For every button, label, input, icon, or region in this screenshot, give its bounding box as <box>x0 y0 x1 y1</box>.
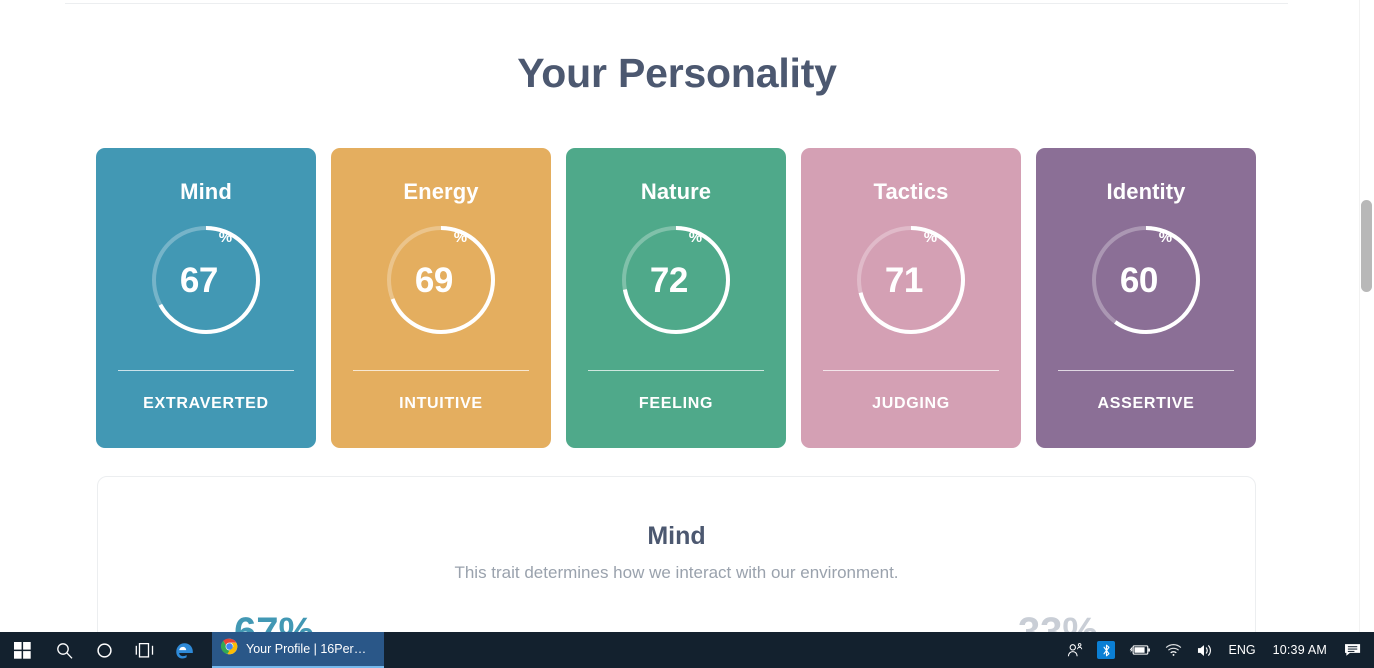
trait-card-tactics[interactable]: Tactics 71 % JUDGING <box>801 148 1021 448</box>
trait-card-energy[interactable]: Energy 69 % INTUITIVE <box>331 148 551 448</box>
trait-card-nature[interactable]: Nature 72 % FEELING <box>566 148 786 448</box>
gauge-percent-symbol: % <box>924 229 937 246</box>
trait-card-title: Nature <box>641 179 711 205</box>
cortana-circle-icon[interactable] <box>84 632 124 668</box>
detail-panel-title: Mind <box>98 521 1255 551</box>
detail-panel-figures: 67% 33% <box>98 609 1255 632</box>
card-separator <box>1058 370 1234 371</box>
gauge-number: 67 <box>180 263 218 298</box>
detail-left-percent: 67% <box>234 609 314 632</box>
system-tray: ENG 10:39 AM <box>1060 632 1374 668</box>
gauge-percent-symbol: % <box>219 229 232 246</box>
battery-charging-icon[interactable] <box>1122 632 1158 668</box>
people-icon[interactable] <box>1060 632 1090 668</box>
taskbar-app-label: Your Profile | 16Perso... <box>246 642 372 656</box>
trait-card-title: Identity <box>1106 179 1185 205</box>
search-icon[interactable] <box>44 632 84 668</box>
gauge-value: 67 % <box>149 223 263 337</box>
browser-content: Your Personality Mind 67 % EXTRAVERTED <box>0 0 1374 632</box>
taskbar-clock[interactable]: 10:39 AM <box>1263 632 1337 668</box>
gauge-value: 60 % <box>1089 223 1203 337</box>
trait-card-mind[interactable]: Mind 67 % EXTRAVERTED <box>96 148 316 448</box>
card-separator <box>588 370 764 371</box>
bluetooth-icon[interactable] <box>1090 632 1122 668</box>
detail-panel-description: This trait determines how we interact wi… <box>98 561 1255 585</box>
card-separator <box>118 370 294 371</box>
language-indicator[interactable]: ENG <box>1221 632 1262 668</box>
windows-taskbar: Your Profile | 16Perso... <box>0 632 1374 668</box>
donut-gauge-icon: 71 % <box>854 223 968 337</box>
trait-detail-panel: Mind This trait determines how we intera… <box>97 476 1256 632</box>
gauge-value: 69 % <box>384 223 498 337</box>
gauge-percent-symbol: % <box>454 229 467 246</box>
windows-start-icon[interactable] <box>0 632 44 668</box>
donut-gauge-icon: 72 % <box>619 223 733 337</box>
trait-label: INTUITIVE <box>331 395 551 413</box>
trait-label: ASSERTIVE <box>1036 395 1256 413</box>
trait-card-title: Mind <box>180 179 232 205</box>
action-center-icon[interactable] <box>1337 632 1370 668</box>
gauge-number: 72 <box>650 263 688 298</box>
gauge-number: 69 <box>415 263 453 298</box>
task-view-icon[interactable] <box>124 632 164 668</box>
trait-card-title: Tactics <box>874 179 949 205</box>
trait-card-title: Energy <box>403 179 478 205</box>
chrome-icon <box>221 638 238 660</box>
trait-card-row: Mind 67 % EXTRAVERTED Energy <box>96 148 1256 448</box>
card-separator <box>353 370 529 371</box>
screen: Your Personality Mind 67 % EXTRAVERTED <box>0 0 1374 668</box>
wifi-icon[interactable] <box>1158 632 1189 668</box>
donut-gauge-icon: 67 % <box>149 223 263 337</box>
header-divider <box>65 3 1288 4</box>
edge-browser-icon[interactable] <box>164 632 204 668</box>
vertical-scrollbar[interactable] <box>1359 0 1374 632</box>
page-title: Your Personality <box>0 44 1354 102</box>
trait-label: JUDGING <box>801 395 1021 413</box>
gauge-percent-symbol: % <box>689 229 702 246</box>
trait-card-identity[interactable]: Identity 60 % ASSERTIVE <box>1036 148 1256 448</box>
donut-gauge-icon: 60 % <box>1089 223 1203 337</box>
trait-label: FEELING <box>566 395 786 413</box>
card-separator <box>823 370 999 371</box>
gauge-number: 60 <box>1120 263 1158 298</box>
gauge-value: 71 % <box>854 223 968 337</box>
taskbar-app-chrome[interactable]: Your Profile | 16Perso... <box>212 632 384 668</box>
donut-gauge-icon: 69 % <box>384 223 498 337</box>
trait-label: EXTRAVERTED <box>96 395 316 413</box>
detail-right-percent: 33% <box>1018 609 1098 632</box>
gauge-percent-symbol: % <box>1159 229 1172 246</box>
scrollbar-thumb[interactable] <box>1361 200 1372 292</box>
gauge-number: 71 <box>885 263 923 298</box>
gauge-value: 72 % <box>619 223 733 337</box>
volume-icon[interactable] <box>1189 632 1221 668</box>
